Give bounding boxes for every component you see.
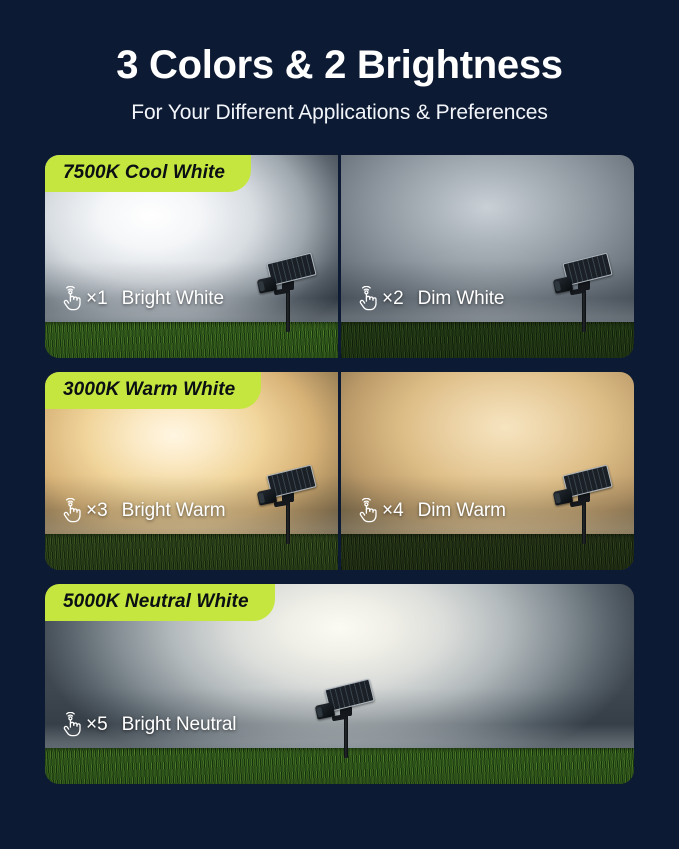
hand-tap-icon [355, 498, 379, 524]
panel-caption: ×3 Bright Warm [59, 498, 225, 524]
panel-caption: ×5 Bright Neutral [59, 712, 236, 738]
scene-panel[interactable]: ×2 Dim White [341, 155, 634, 358]
solar-spotlight [256, 254, 322, 332]
mode-label: Dim Warm [418, 500, 506, 522]
hand-tap-icon [355, 286, 379, 312]
scene-row: 7500K Cool White ×1 [45, 155, 634, 358]
lamp-lens [316, 707, 323, 718]
hand-tap-icon [59, 712, 83, 738]
header: 3 Colors & 2 Brightness For Your Differe… [0, 0, 679, 125]
lamp-lens [554, 493, 561, 504]
tap-count: ×4 [382, 500, 404, 522]
lamp-lens [258, 281, 265, 292]
lamp-lens [554, 281, 561, 292]
solar-spotlight [552, 466, 618, 544]
hand-tap-icon [59, 498, 83, 524]
page-title: 3 Colors & 2 Brightness [0, 42, 679, 88]
panel-caption: ×4 Dim Warm [355, 498, 506, 524]
scene-row: 5000K Neutral White ×5 [45, 584, 634, 784]
temperature-badge: 7500K Cool White [45, 155, 251, 192]
scene-panel[interactable]: ×4 Dim Warm [341, 372, 634, 570]
scene-row: 3000K Warm White ×3 [45, 372, 634, 570]
lamp-lens [258, 493, 265, 504]
scene-rows: 7500K Cool White ×1 [45, 155, 634, 784]
tap-count: ×1 [86, 288, 108, 310]
hand-tap-icon [59, 286, 83, 312]
mode-label: Bright White [122, 288, 224, 310]
solar-spotlight [552, 254, 618, 332]
temperature-badge: 5000K Neutral White [45, 584, 275, 621]
tap-count: ×5 [86, 714, 108, 736]
mode-label: Bright Neutral [122, 714, 237, 736]
solar-spotlight [256, 466, 322, 544]
infographic-page: 3 Colors & 2 Brightness For Your Differe… [0, 0, 679, 849]
solar-spotlight [314, 680, 380, 758]
mode-label: Dim White [418, 288, 505, 310]
mode-label: Bright Warm [122, 500, 226, 522]
scene-panel[interactable]: 3000K Warm White ×3 [45, 372, 338, 570]
temperature-badge: 3000K Warm White [45, 372, 261, 409]
scene-panel[interactable]: 5000K Neutral White ×5 [45, 584, 634, 784]
panel-caption: ×2 Dim White [355, 286, 504, 312]
tap-count: ×2 [382, 288, 404, 310]
panel-caption: ×1 Bright White [59, 286, 224, 312]
page-subtitle: For Your Different Applications & Prefer… [0, 101, 679, 125]
tap-count: ×3 [86, 500, 108, 522]
scene-panel[interactable]: 7500K Cool White ×1 [45, 155, 338, 358]
